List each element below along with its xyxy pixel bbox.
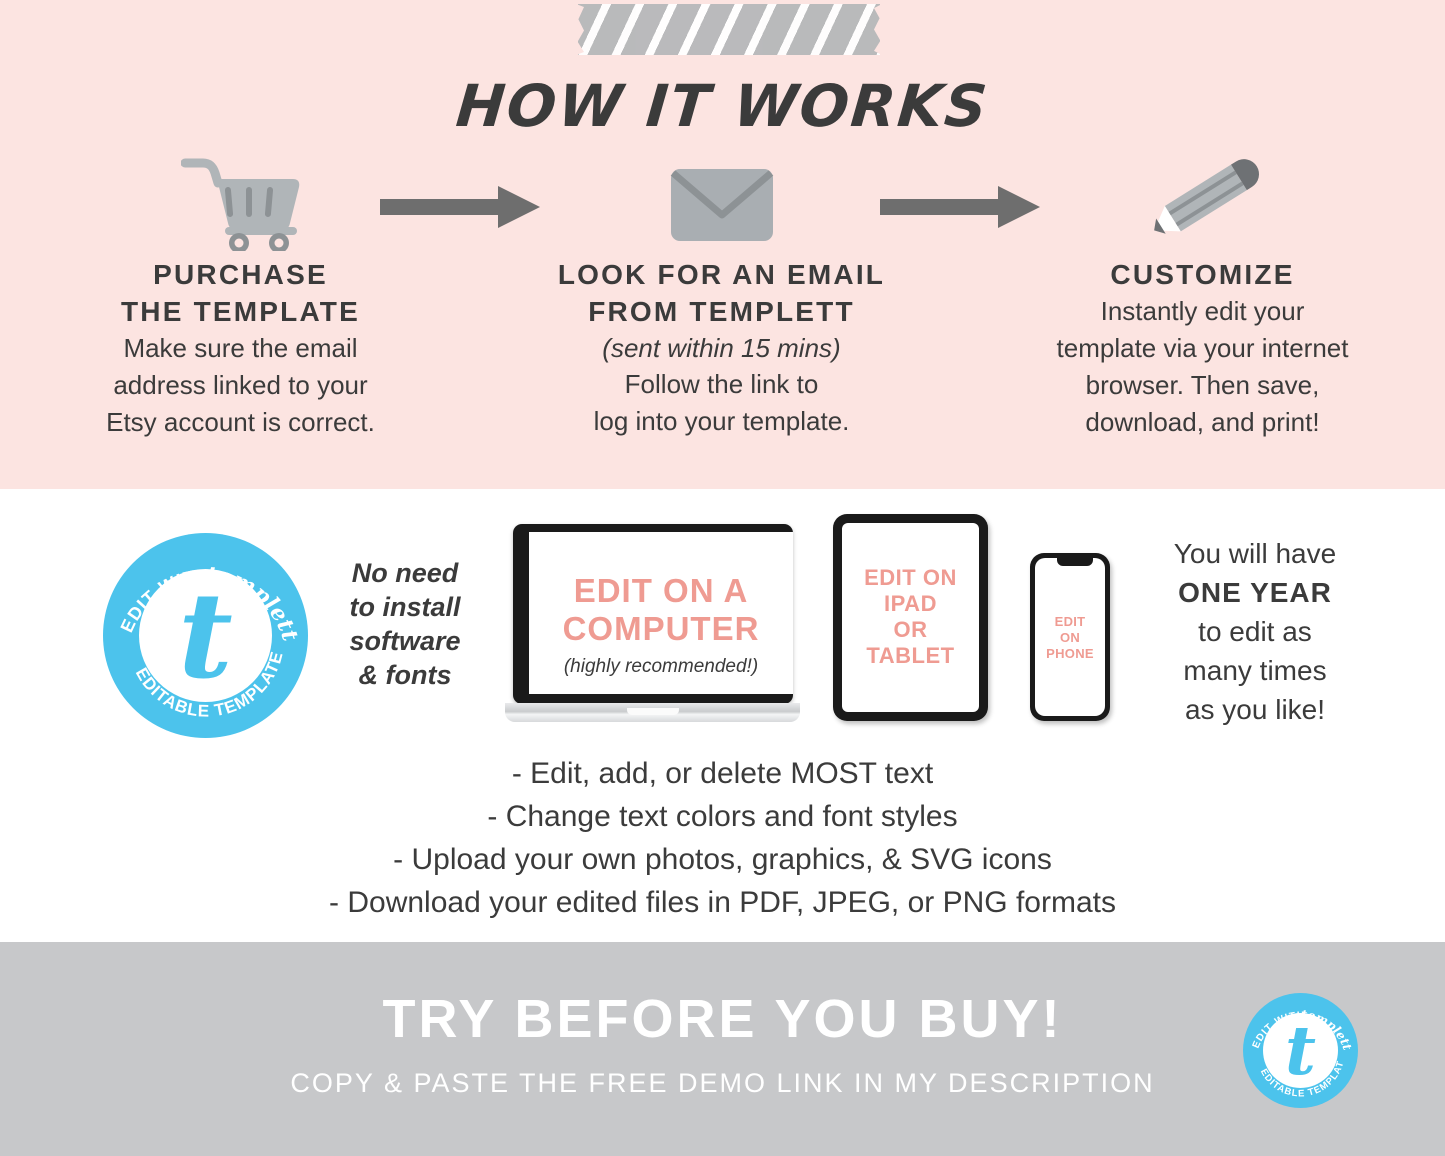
- steps-row: PURCHASE THE TEMPLATE Make sure the emai…: [0, 146, 1445, 441]
- laptop-recommend-note: (highly recommended!): [529, 656, 793, 678]
- no-need-text: No need to install software & fonts: [330, 556, 480, 692]
- step-2-heading-line2: FROM TEMPLETT: [588, 293, 855, 330]
- shopping-cart-icon: [181, 146, 301, 256]
- svg-text:templett: templett: [1301, 1007, 1355, 1052]
- step-3-body-line4: download, and print!: [1085, 404, 1319, 441]
- one-year-line3: to edit as: [1120, 612, 1390, 651]
- tablet-mockup: EDIT ON IPAD OR TABLET: [833, 514, 988, 721]
- step-2-heading-line1: LOOK FOR AN EMAIL: [558, 256, 885, 293]
- tablet-text-line4: TABLET: [842, 643, 979, 669]
- laptop-screen-text: EDIT ON A COMPUTER: [529, 572, 793, 648]
- step-2-body-line2: log into your template.: [594, 403, 850, 440]
- one-year-line4: many times: [1120, 651, 1390, 690]
- one-year-highlight: ONE YEAR: [1178, 577, 1332, 608]
- laptop-trackpad-notch: [627, 708, 679, 715]
- svg-text:EDIT WITH: EDIT WITH: [117, 566, 211, 636]
- templett-badge-small: t EDIT WITH templett EDITABLE TEMPLATE: [1243, 993, 1358, 1108]
- svg-text:templett: templett: [206, 562, 303, 645]
- phone-text-line3: PHONE: [1035, 646, 1105, 662]
- step-1-heading-line2: THE TEMPLATE: [121, 293, 360, 330]
- one-year-line5: as you like!: [1120, 690, 1390, 729]
- step-1-body-line1: Make sure the email: [123, 330, 357, 367]
- laptop-mockup: EDIT ON A COMPUTER (highly recommended!): [505, 524, 800, 730]
- one-year-text: You will have ONE YEAR to edit as many t…: [1120, 534, 1390, 729]
- phone-screen-text: EDIT ON PHONE: [1035, 614, 1105, 662]
- step-email: LOOK FOR AN EMAIL FROM TEMPLETT (sent wi…: [481, 146, 962, 441]
- step-1-heading-line1: PURCHASE: [153, 256, 328, 293]
- tablet-screen: EDIT ON IPAD OR TABLET: [842, 523, 979, 712]
- templett-badge-large: t EDIT WITH templett EDITABLE TEMPLATE: [103, 533, 308, 738]
- svg-text:EDIT WITH: EDIT WITH: [1251, 1010, 1305, 1050]
- step-3-body-line3: browser. Then save,: [1086, 367, 1320, 404]
- list-item: - Change text colors and font styles: [0, 795, 1445, 838]
- page-title: HOW IT WORKS: [0, 72, 1445, 140]
- laptop-text-line1: EDIT ON A: [529, 572, 793, 610]
- no-need-line3: software: [330, 624, 480, 658]
- laptop-screen: EDIT ON A COMPUTER (highly recommended!): [529, 532, 793, 694]
- tablet-text-line1: EDIT ON: [842, 565, 979, 591]
- feature-bullet-list: - Edit, add, or delete MOST text - Chang…: [0, 752, 1445, 924]
- step-2-body-line1: Follow the link to: [625, 366, 819, 403]
- list-item: - Upload your own photos, graphics, & SV…: [0, 838, 1445, 881]
- list-item: - Edit, add, or delete MOST text: [0, 752, 1445, 795]
- phone-mockup: EDIT ON PHONE: [1030, 553, 1110, 721]
- washi-tape-icon: [578, 4, 880, 55]
- how-it-works-infographic: HOW IT WORKS: [0, 0, 1445, 1156]
- svg-text:EDITABLE TEMPLATE: EDITABLE TEMPLATE: [132, 649, 287, 721]
- step-3-body-line2: template via your internet: [1057, 330, 1349, 367]
- step-2-italic-note: (sent within 15 mins): [602, 330, 840, 366]
- phone-text-line1: EDIT: [1035, 614, 1105, 630]
- step-3-body-line1: Instantly edit your: [1101, 293, 1305, 330]
- phone-notch: [1057, 558, 1093, 566]
- step-1-body-line2: address linked to your: [113, 367, 367, 404]
- pencil-icon: [1138, 146, 1268, 256]
- footer-subtitle: COPY & PASTE THE FREE DEMO LINK IN MY DE…: [0, 1068, 1445, 1099]
- list-item: - Download your edited files in PDF, JPE…: [0, 881, 1445, 924]
- footer-title: TRY BEFORE YOU BUY!: [0, 988, 1445, 1050]
- no-need-line2: to install: [330, 590, 480, 624]
- tablet-text-line2: IPAD: [842, 591, 979, 617]
- tablet-text-line3: OR: [842, 617, 979, 643]
- step-3-heading-line1: CUSTOMIZE: [1110, 256, 1294, 293]
- tablet-screen-text: EDIT ON IPAD OR TABLET: [842, 565, 979, 669]
- phone-screen: EDIT ON PHONE: [1035, 558, 1105, 716]
- step-customize: CUSTOMIZE Instantly edit your template v…: [962, 146, 1443, 441]
- step-purchase: PURCHASE THE TEMPLATE Make sure the emai…: [0, 146, 481, 441]
- phone-text-line2: ON: [1035, 630, 1105, 646]
- no-need-line1: No need: [330, 556, 480, 590]
- laptop-lid: EDIT ON A COMPUTER (highly recommended!): [513, 524, 793, 704]
- step-1-body-line3: Etsy account is correct.: [106, 404, 375, 441]
- laptop-text-line2: COMPUTER: [529, 610, 793, 648]
- no-need-line4: & fonts: [330, 658, 480, 692]
- envelope-icon: [667, 146, 777, 256]
- one-year-line1: You will have: [1120, 534, 1390, 573]
